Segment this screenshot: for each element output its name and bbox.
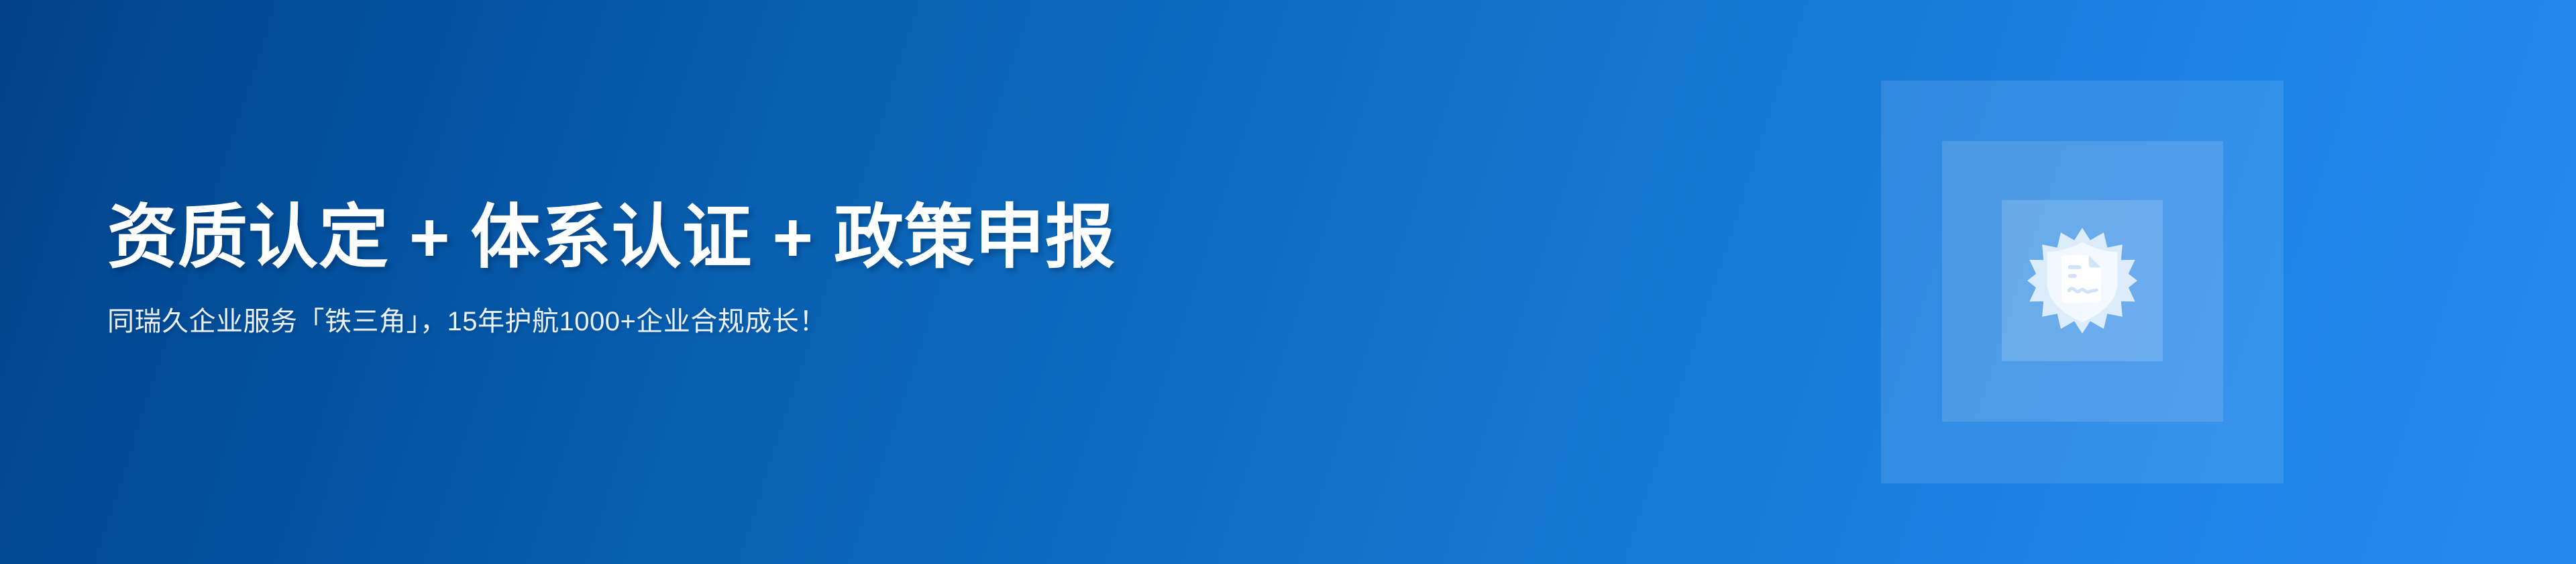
banner-subheadline: 同瑞久企业服务「铁三角」，15年护航1000+企业合规成长！: [107, 277, 1717, 338]
banner-text-block: 资质认定 + 体系认证 + 政策申报 同瑞久企业服务「铁三角」，15年护航100…: [107, 199, 1717, 338]
certificate-seal-shield-icon: [2027, 226, 2137, 336]
promo-banner: 资质认定 + 体系认证 + 政策申报 同瑞久企业服务「铁三角」，15年护航100…: [0, 0, 2576, 564]
decorative-nested-squares: [1881, 81, 2284, 483]
banner-headline: 资质认定 + 体系认证 + 政策申报: [107, 199, 1717, 277]
